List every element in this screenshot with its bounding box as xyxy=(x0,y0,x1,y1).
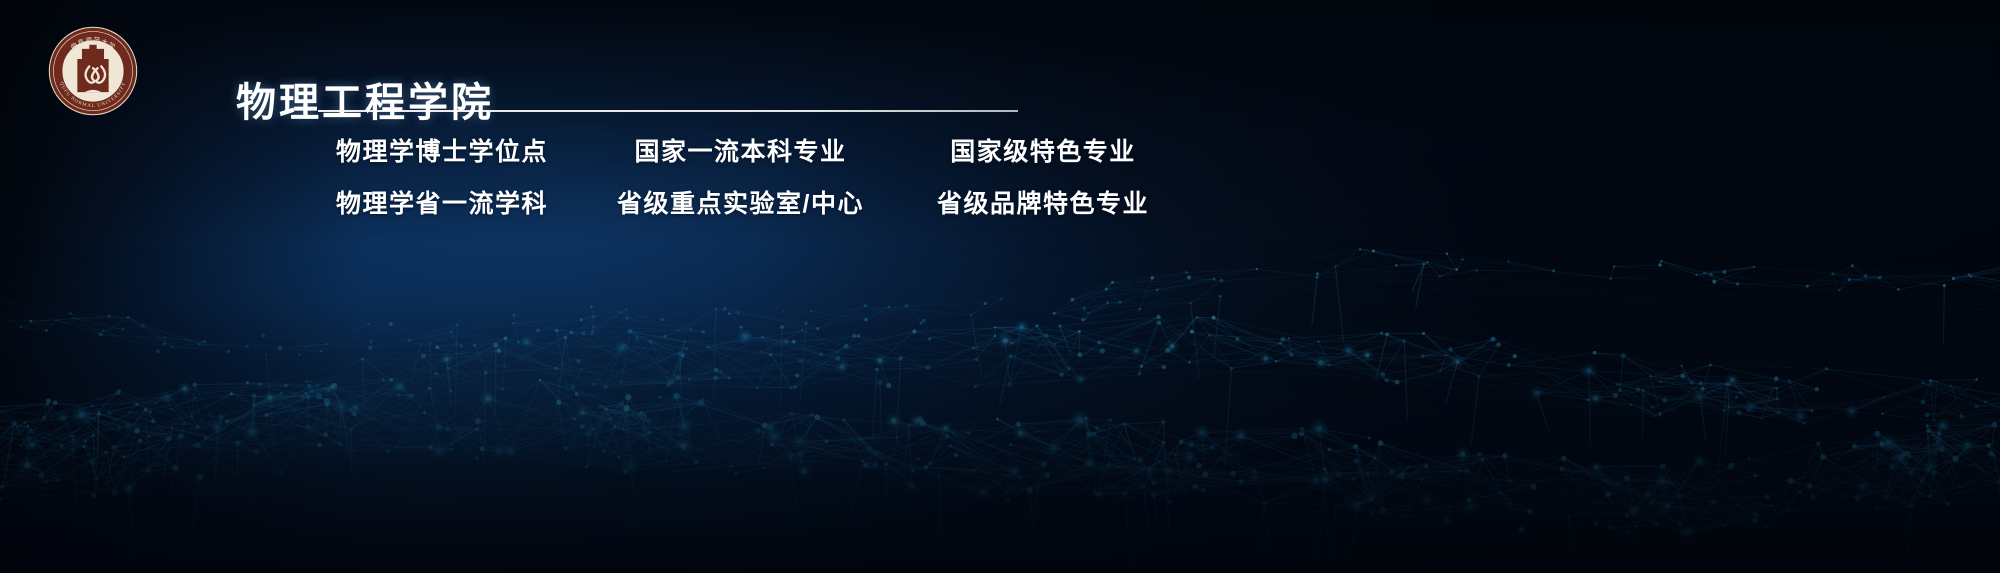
credential-tag-grid: 物理学博士学位点 国家一流本科专业 国家级特色专业 物理学省一流学科 省级重点实… xyxy=(296,124,1196,228)
credential-tag: 国家级特色专业 xyxy=(893,132,1193,168)
credential-tag: 物理学省一流学科 xyxy=(296,184,588,220)
credential-tag: 国家一流本科专业 xyxy=(588,132,893,168)
banner-title: 物理工程学院 xyxy=(236,70,494,128)
site-banner: 1955 曲阜师范大学 QUFU NORMAL UNIVERSITY 物理工程学… xyxy=(0,0,2000,573)
credential-row-2: 物理学省一流学科 省级重点实验室/中心 省级品牌特色专业 xyxy=(296,176,1196,228)
credential-tag: 物理学博士学位点 xyxy=(296,132,588,168)
credential-row-1: 物理学博士学位点 国家一流本科专业 国家级特色专业 xyxy=(296,124,1196,176)
credential-tag: 省级重点实验室/中心 xyxy=(588,184,893,220)
credential-tag: 省级品牌特色专业 xyxy=(893,184,1193,220)
banner-content: 物理工程学院 物理学博士学位点 国家一流本科专业 国家级特色专业 物理学省一流学… xyxy=(0,0,2000,573)
title-divider xyxy=(318,110,1018,112)
